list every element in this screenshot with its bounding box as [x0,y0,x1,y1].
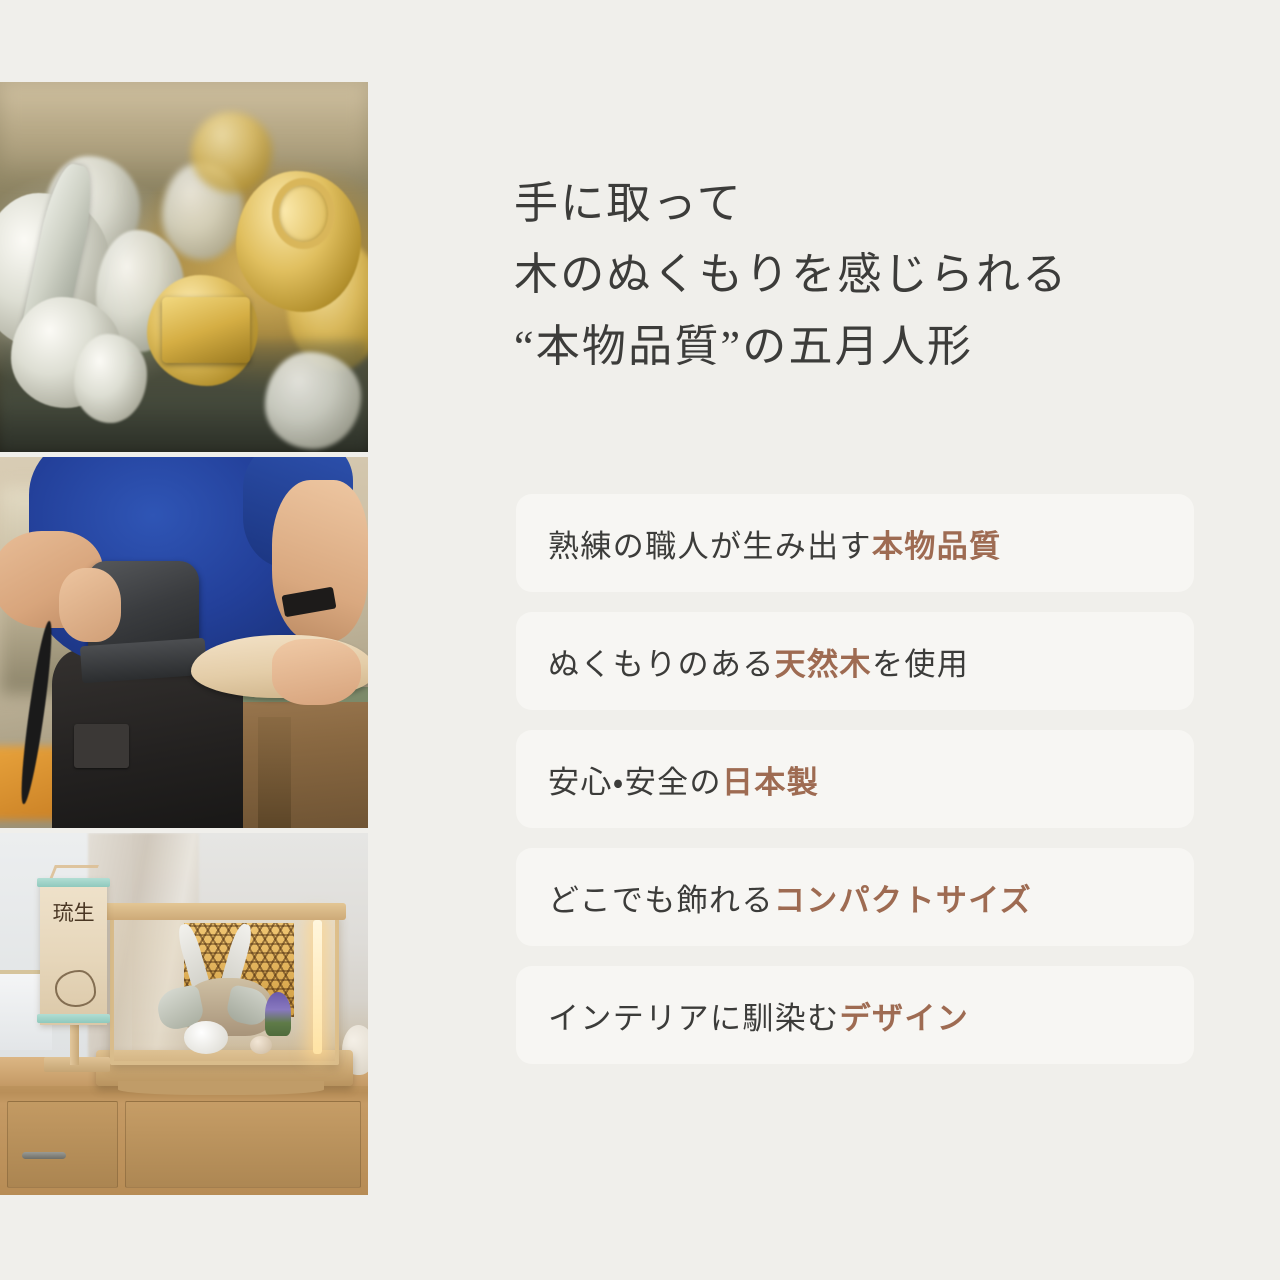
gold-plate-ornament-icon [162,297,250,364]
feature-text: どこでも飾れるコンパクトサイズ [548,875,1032,920]
silver-armor-part-icon [265,352,361,448]
iris-flower-icon [265,992,291,1035]
craftsman-right-arm [272,480,368,643]
feature-plain-before: どこでも飾れる [548,883,774,918]
display-case-foot [118,1081,324,1095]
display-case-top-rail [103,903,346,919]
snake-icon [55,970,95,1006]
feature-accent: デザイン [840,1001,970,1036]
photo-column: 琉生 [0,82,368,1195]
feature-plain-before: 熟練の職人が生み出す [548,529,872,564]
promo-page: 琉生 手に取って 木のぬくもりを感じられる “本物品質”の五月人形 熟練の職人が… [0,0,1280,1280]
feature-text: 熟練の職人が生み出す本物品質 [548,521,1002,566]
feature-text: ぬくもりのある天然木を使用 [548,639,969,684]
gold-armor-part-icon [191,112,272,193]
feature-plain-after: を使用 [872,647,969,682]
craftsman-left-hand [59,568,122,642]
feature-accent: コンパクトサイズ [774,883,1032,918]
feature-plain-before: ぬくもりのある [548,647,775,682]
armor-photo-blurred-background [0,82,368,178]
content-column: 手に取って 木のぬくもりを感じられる “本物品質”の五月人形 熟練の職人が生み出… [514,0,1214,1280]
trouser-pocket [74,724,129,768]
page-title: 手に取って 木のぬくもりを感じられる “本物品質”の五月人形 [514,168,1204,382]
feature-text: 安心・安全の日本製 [548,757,819,802]
feature-card-design[interactable]: インテリアに馴染むデザイン [516,966,1194,1064]
drawer-handle-icon [22,1152,66,1160]
gold-ring-ornament-icon [272,178,335,248]
decorative-ball-icon [250,1036,272,1054]
feature-card-made-in-japan[interactable]: 安心・安全の日本製 [516,730,1194,828]
feature-text: インテリアに馴染むデザイン [548,993,969,1038]
feature-list: 熟練の職人が生み出す本物品質 ぬくもりのある天然木を使用 安心・安全の日本製 ど… [516,494,1194,1064]
dresser-drawer [125,1101,361,1188]
workbench-leg [258,717,291,828]
feature-card-compact-size[interactable]: どこでも飾れるコンパクトサイズ [516,848,1194,946]
feature-accent: 日本製 [722,765,819,800]
photo-craftsman-sanding-wood [0,457,368,827]
dresser-drawer [7,1101,117,1188]
feature-accent: 天然木 [775,647,872,682]
photo-armor-parts-workbench [0,82,368,452]
feature-plain-before: 安心・安全の [548,765,722,800]
photo-kabuto-display-case: 琉生 [0,833,368,1195]
decorative-knot-icon [184,1021,228,1054]
feature-accent: 本物品質 [872,529,1002,564]
feature-plain-before: インテリアに馴染む [548,1001,840,1036]
feature-card-natural-wood[interactable]: ぬくもりのある天然木を使用 [516,612,1194,710]
feature-card-quality[interactable]: 熟練の職人が生み出す本物品質 [516,494,1194,592]
warm-light-bar-icon [313,920,323,1054]
craftsman-right-hand [272,639,360,706]
